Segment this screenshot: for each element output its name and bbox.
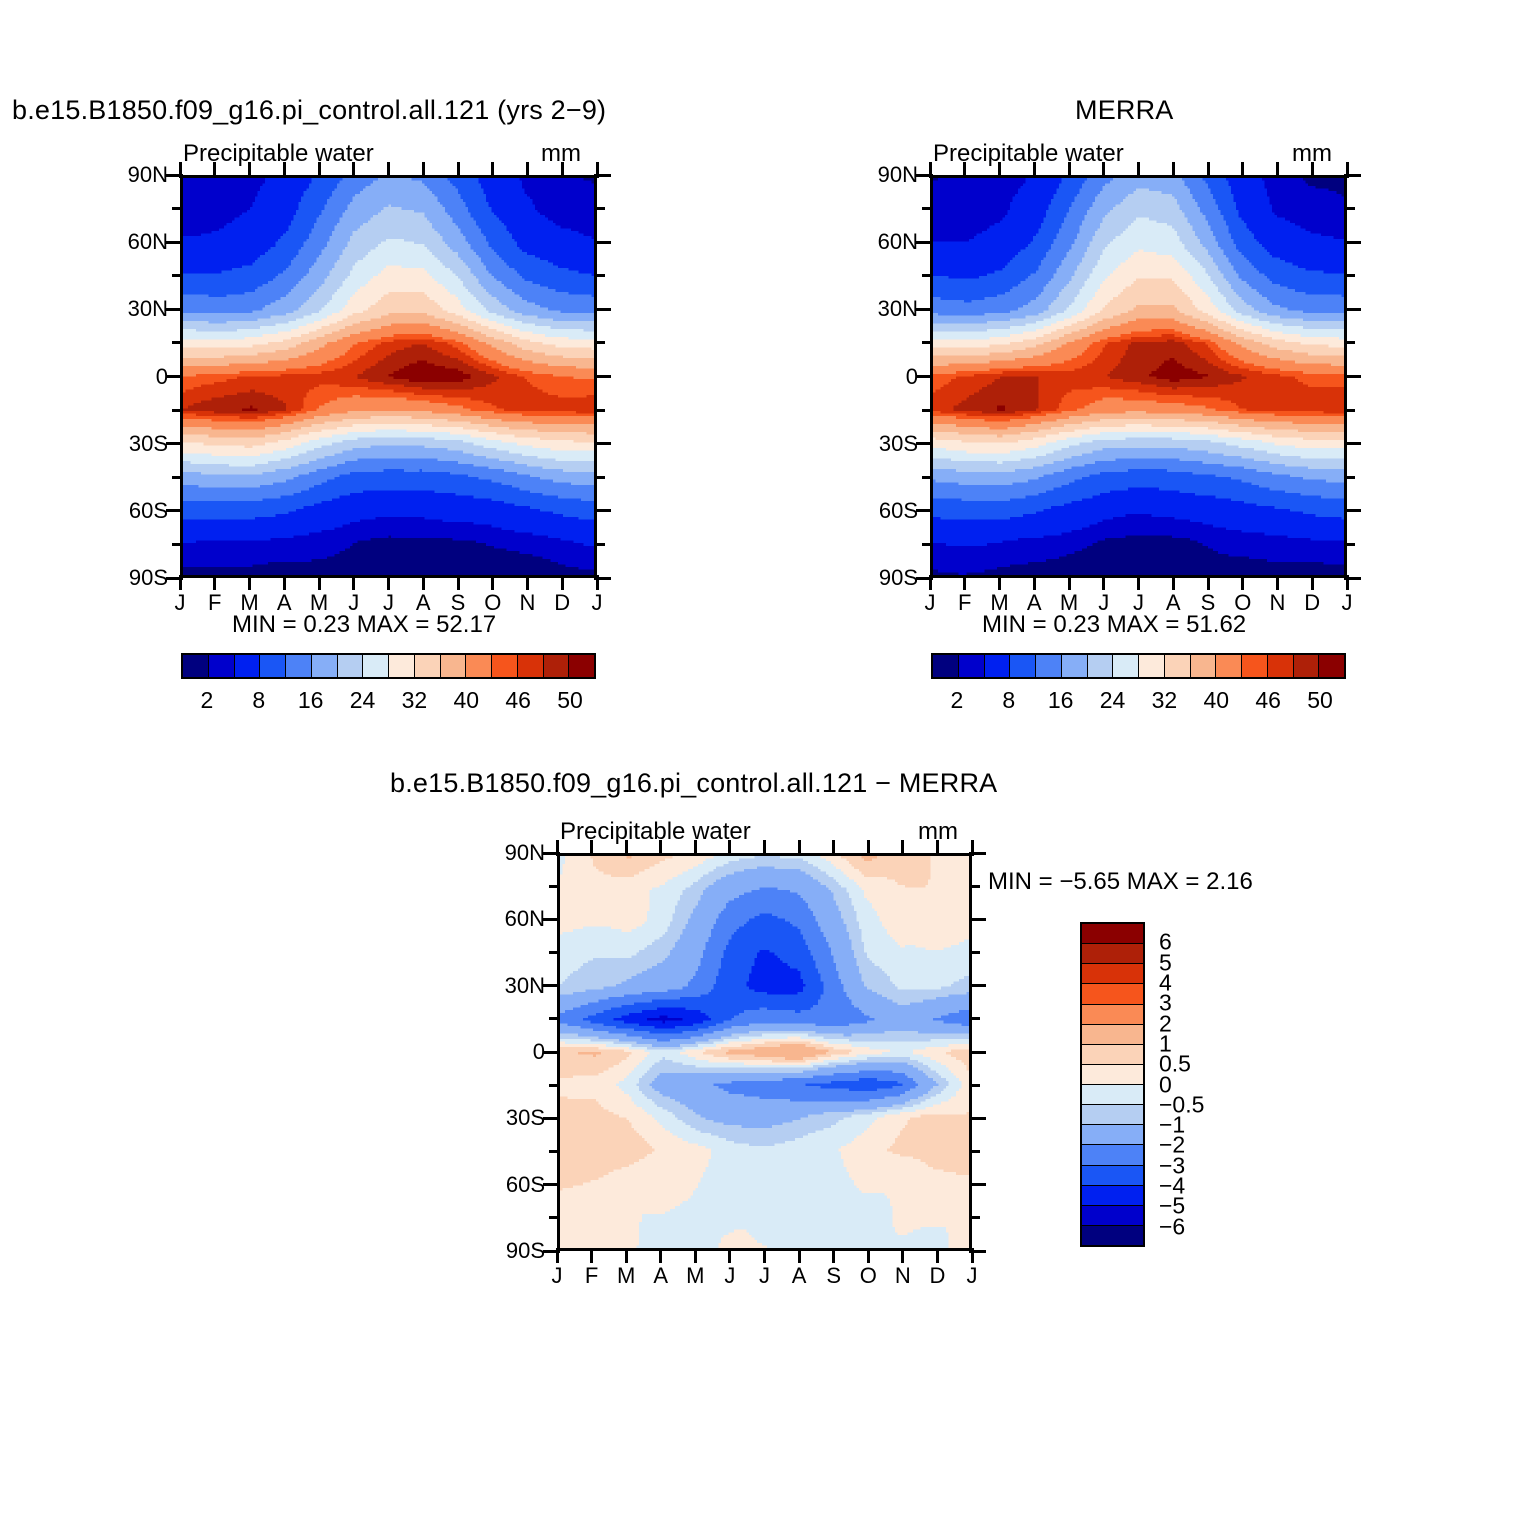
y-axis-label: 90N [100,162,168,188]
y-axis-tick [1344,375,1361,378]
colorbar-swatch [1082,1065,1143,1085]
y-axis-minor-tick [969,885,980,888]
x-axis-tick [867,1248,870,1263]
top-left-variable-label: Precipitable water [183,140,374,168]
x-axis-tick [728,840,731,856]
x-axis-tick [1241,575,1244,590]
y-axis-minor-tick [594,274,605,277]
colorbar-swatch [1088,655,1114,677]
difference-colorbar-tick-label: −6 [1159,1213,1185,1240]
x-axis-tick [901,1248,904,1263]
top-left-minmax: MIN = 0.23 MAX = 52.17 [232,611,496,639]
x-axis-tick [625,1248,628,1263]
x-axis-month-label: N [1263,590,1293,616]
y-axis-minor-tick [969,951,980,954]
y-axis-label: 30S [477,1105,545,1131]
colorbar-swatch [183,655,209,677]
x-axis-tick [1033,575,1036,590]
y-axis-minor-tick [1344,207,1355,210]
x-axis-tick [963,162,966,178]
x-axis-tick [1276,162,1279,178]
x-axis-month-label: D [547,590,577,616]
x-axis-tick [248,162,251,178]
y-axis-label: 30N [850,296,918,322]
x-axis-tick [963,575,966,590]
y-axis-minor-tick [1344,341,1355,344]
x-axis-month-label: J [165,590,195,616]
y-axis-minor-tick [172,341,183,344]
x-axis-tick [1102,162,1105,178]
top-right-minmax: MIN = 0.23 MAX = 51.62 [982,611,1246,639]
x-axis-tick [556,840,559,856]
x-axis-tick [929,162,932,178]
x-axis-month-label: F [950,590,980,616]
x-axis-tick [526,162,529,178]
colorbar-swatch [1139,655,1165,677]
colorbar-swatch [363,655,389,677]
y-axis-minor-tick [172,409,183,412]
y-axis-label: 90S [100,565,168,591]
y-axis-tick [1344,308,1361,311]
x-axis-tick [867,840,870,856]
x-axis-tick [590,1248,593,1263]
x-axis-tick [561,575,564,590]
colorbar-tick-label: 32 [1139,687,1189,714]
y-axis-label: 60S [477,1172,545,1198]
x-axis-tick [1172,162,1175,178]
colorbar-swatch [441,655,467,677]
y-axis-minor-tick [1344,409,1355,412]
x-axis-tick [248,575,251,590]
y-axis-label: 60S [850,498,918,524]
colorbar-swatch [1082,1045,1143,1065]
y-axis-label: 60N [477,906,545,932]
y-axis-label: 60N [850,229,918,255]
x-axis-month-label: N [513,590,543,616]
x-axis-tick [352,162,355,178]
y-axis-label: 90N [850,162,918,188]
y-axis-minor-tick [922,207,933,210]
colorbar-swatch [1191,655,1217,677]
y-axis-label: 30S [850,431,918,457]
y-axis-tick [969,1117,986,1120]
y-axis-minor-tick [922,409,933,412]
y-axis-tick [594,509,611,512]
y-axis-minor-tick [172,476,183,479]
y-axis-minor-tick [594,476,605,479]
y-axis-minor-tick [549,885,560,888]
x-axis-tick [318,575,321,590]
colorbar-swatch [1082,1125,1143,1145]
x-axis-tick [901,840,904,856]
x-axis-month-label: A [646,1263,676,1289]
x-axis-tick [659,840,662,856]
colorbar-swatch [959,655,985,677]
y-axis-minor-tick [1344,274,1355,277]
x-axis-tick [352,575,355,590]
y-axis-tick [1344,509,1361,512]
y-axis-minor-tick [969,1017,980,1020]
colorbar-swatch [235,655,261,677]
y-axis-tick [916,442,933,445]
x-axis-tick [1311,575,1314,590]
colorbar-swatch [1242,655,1268,677]
colorbar-swatch [466,655,492,677]
x-axis-month-label: D [922,1263,952,1289]
x-axis-tick [561,162,564,178]
colorbar-swatch [1010,655,1036,677]
x-axis-month-label: D [1297,590,1327,616]
x-axis-tick [936,840,939,856]
x-axis-tick [179,162,182,178]
y-axis-minor-tick [172,543,183,546]
y-axis-tick [166,509,183,512]
x-axis-tick [556,1248,559,1263]
y-axis-tick [594,375,611,378]
x-axis-tick [387,575,390,590]
x-axis-tick [929,575,932,590]
y-axis-tick [543,918,560,921]
x-axis-month-label: J [1332,590,1362,616]
y-axis-minor-tick [594,207,605,210]
colorbar-swatch [1113,655,1139,677]
colorbar-swatch [1082,1025,1143,1045]
y-axis-label: 30N [100,296,168,322]
colorbar-tick-label: 8 [984,687,1034,714]
top-right-panel-title: MERRA [1075,95,1174,126]
colorbar-swatch [518,655,544,677]
x-axis-tick [213,162,216,178]
colorbar-swatch [1082,1145,1143,1165]
colorbar-swatch [1082,984,1143,1004]
colorbar-swatch [1082,1166,1143,1186]
colorbar-swatch [312,655,338,677]
x-axis-tick [526,575,529,590]
y-axis-minor-tick [922,274,933,277]
colorbar-tick-label: 24 [338,687,388,714]
colorbar-tick-label: 46 [1243,687,1293,714]
x-axis-tick [283,575,286,590]
x-axis-tick [422,575,425,590]
x-axis-tick [179,575,182,590]
colorbar-swatch [1082,944,1143,964]
y-axis-tick [543,1051,560,1054]
top-left-panel-title: b.e15.B1850.f09_g16.pi_control.all.121 (… [12,95,606,126]
x-axis-month-label: N [888,1263,918,1289]
x-axis-tick [728,1248,731,1263]
colorbar-swatch [1082,1085,1143,1105]
x-axis-tick [1241,162,1244,178]
y-axis-minor-tick [172,207,183,210]
y-axis-tick [969,918,986,921]
y-axis-minor-tick [922,476,933,479]
colorbar-swatch [1082,1105,1143,1125]
y-axis-minor-tick [922,341,933,344]
x-axis-tick [832,1248,835,1263]
x-axis-month-label: F [200,590,230,616]
colorbar-swatch [933,655,959,677]
x-axis-month-label: S [819,1263,849,1289]
colorbar-swatch [389,655,415,677]
x-axis-tick [1068,162,1071,178]
colorbar-swatch [1216,655,1242,677]
x-axis-tick [1102,575,1105,590]
y-axis-minor-tick [594,341,605,344]
colorbar-swatch [1268,655,1294,677]
x-axis-tick [694,1248,697,1263]
y-axis-minor-tick [594,543,605,546]
x-axis-tick [596,575,599,590]
x-axis-month-label: J [915,590,945,616]
colorbar-tick-label: 40 [441,687,491,714]
colorbar-swatch [260,655,286,677]
x-axis-tick [798,1248,801,1263]
x-axis-month-label: M [680,1263,710,1289]
y-axis-label: 0 [100,364,168,390]
colorbar-swatch [1062,655,1088,677]
x-axis-tick [491,162,494,178]
y-axis-tick [594,308,611,311]
colorbar-tick-label: 32 [389,687,439,714]
x-axis-tick [491,575,494,590]
y-axis-label: 90S [850,565,918,591]
top-right-contour-plot[interactable] [930,175,1347,578]
x-axis-tick [1068,575,1071,590]
colorbar-swatch [415,655,441,677]
y-axis-tick [543,1117,560,1120]
y-axis-tick [969,984,986,987]
x-axis-tick [936,1248,939,1263]
colorbar-swatch [1036,655,1062,677]
colorbar-swatch [1082,964,1143,984]
x-axis-month-label: J [715,1263,745,1289]
x-axis-month-label: O [853,1263,883,1289]
x-axis-tick [998,162,1001,178]
colorbar-swatch [1082,1005,1143,1025]
y-axis-minor-tick [172,274,183,277]
x-axis-tick [318,162,321,178]
colorbar-swatch [1082,1206,1143,1226]
y-axis-minor-tick [549,1084,560,1087]
y-axis-tick [166,375,183,378]
x-axis-month-label: J [957,1263,987,1289]
x-axis-month-label: J [542,1263,572,1289]
x-axis-tick [1033,162,1036,178]
difference-colorbar[interactable] [1080,922,1145,1247]
y-axis-minor-tick [1344,543,1355,546]
y-axis-tick [166,308,183,311]
y-axis-tick [969,1051,986,1054]
x-axis-month-label: F [577,1263,607,1289]
y-axis-label: 0 [477,1039,545,1065]
top-left-contour-plot[interactable] [180,175,597,578]
x-axis-tick [1137,575,1140,590]
colorbar-tick-label: 16 [286,687,336,714]
y-axis-tick [916,241,933,244]
colorbar-swatch [492,655,518,677]
y-axis-minor-tick [549,1017,560,1020]
x-axis-tick [798,840,801,856]
colorbar-tick-label: 2 [182,687,232,714]
colorbar-tick-label: 50 [545,687,595,714]
x-axis-tick [1346,162,1349,178]
colorbar-swatch [1319,655,1344,677]
y-axis-tick [543,1183,560,1186]
top-left-colorbar[interactable] [181,653,596,679]
bottom-variable-label: Precipitable water [560,818,751,846]
colorbar-tick-label: 50 [1295,687,1345,714]
x-axis-tick [694,840,697,856]
y-axis-label: 90S [477,1238,545,1264]
x-axis-tick [590,840,593,856]
y-axis-minor-tick [549,1216,560,1219]
colorbar-tick-label: 40 [1191,687,1241,714]
colorbar-swatch [1294,655,1320,677]
colorbar-tick-label: 2 [932,687,982,714]
colorbar-swatch [1165,655,1191,677]
x-axis-tick [625,840,628,856]
x-axis-tick [1311,162,1314,178]
y-axis-label: 30N [477,973,545,999]
x-axis-month-label: A [784,1263,814,1289]
x-axis-tick [387,162,390,178]
x-axis-tick [1172,575,1175,590]
colorbar-tick-label: 16 [1036,687,1086,714]
x-axis-tick [213,575,216,590]
colorbar-swatch [1082,1186,1143,1206]
y-axis-tick [543,984,560,987]
colorbar-tick-label: 24 [1088,687,1138,714]
bottom-panel-title: b.e15.B1850.f09_g16.pi_control.all.121 −… [390,768,997,799]
y-axis-label: 90N [477,840,545,866]
x-axis-tick [659,1248,662,1263]
y-axis-tick [1344,241,1361,244]
colorbar-swatch [1082,1226,1143,1245]
x-axis-month-label: J [582,590,612,616]
y-axis-minor-tick [969,1216,980,1219]
x-axis-tick [457,162,460,178]
y-axis-minor-tick [1344,476,1355,479]
x-axis-tick [998,575,1001,590]
x-axis-month-label: M [611,1263,641,1289]
y-axis-tick [594,241,611,244]
y-axis-minor-tick [969,1084,980,1087]
x-axis-tick [1207,575,1210,590]
y-axis-tick [916,375,933,378]
y-axis-tick [916,509,933,512]
y-axis-tick [594,442,611,445]
x-axis-tick [1276,575,1279,590]
x-axis-tick [971,840,974,856]
colorbar-swatch [569,655,594,677]
y-axis-minor-tick [969,1150,980,1153]
y-axis-label: 60N [100,229,168,255]
y-axis-minor-tick [922,543,933,546]
y-axis-minor-tick [594,409,605,412]
y-axis-tick [969,1183,986,1186]
y-axis-minor-tick [549,1150,560,1153]
bottom-difference-contour-plot[interactable] [557,853,972,1251]
x-axis-tick [1207,162,1210,178]
y-axis-minor-tick [549,951,560,954]
bottom-minmax: MIN = −5.65 MAX = 2.16 [988,868,1253,896]
top-right-colorbar[interactable] [931,653,1346,679]
x-axis-tick [763,1248,766,1263]
y-axis-tick [1344,442,1361,445]
x-axis-month-label: J [750,1263,780,1289]
colorbar-swatch [544,655,570,677]
x-axis-tick [457,575,460,590]
colorbar-swatch [286,655,312,677]
y-axis-label: 30S [100,431,168,457]
colorbar-swatch [985,655,1011,677]
y-axis-tick [916,308,933,311]
x-axis-tick [422,162,425,178]
x-axis-tick [832,840,835,856]
colorbar-swatch [1082,924,1143,944]
x-axis-tick [763,840,766,856]
y-axis-tick [166,442,183,445]
colorbar-tick-label: 46 [493,687,543,714]
top-right-variable-label: Precipitable water [933,140,1124,168]
colorbar-swatch [338,655,364,677]
x-axis-tick [283,162,286,178]
y-axis-label: 0 [850,364,918,390]
y-axis-label: 60S [100,498,168,524]
x-axis-tick [971,1248,974,1263]
y-axis-tick [166,241,183,244]
x-axis-tick [1346,575,1349,590]
x-axis-tick [1137,162,1140,178]
colorbar-tick-label: 8 [234,687,284,714]
colorbar-swatch [209,655,235,677]
x-axis-tick [596,162,599,178]
